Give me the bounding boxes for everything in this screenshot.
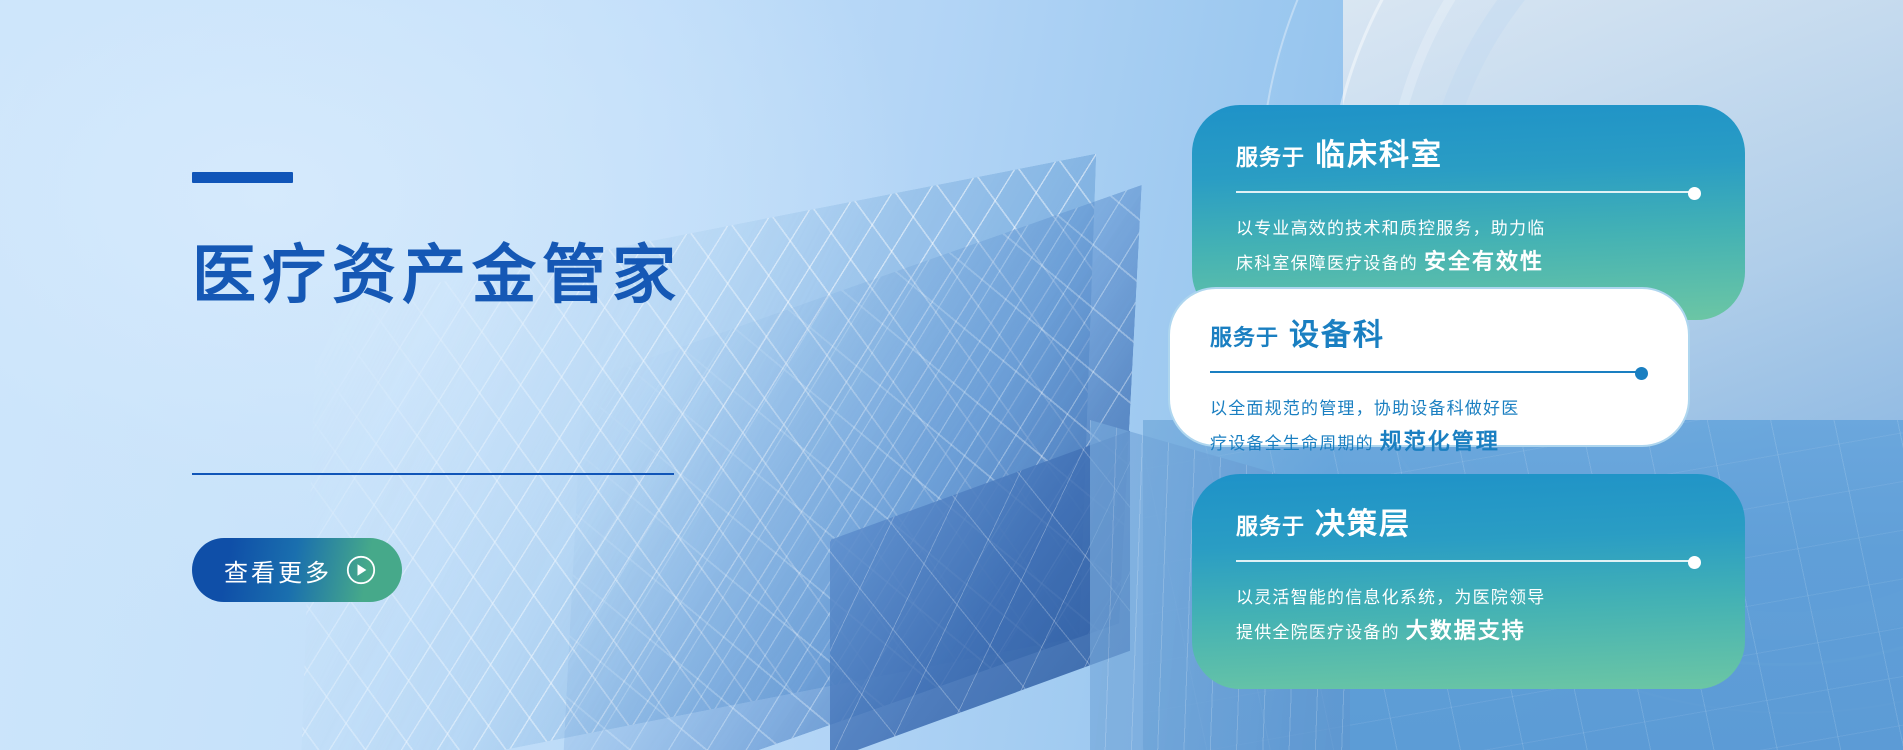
card-description: 以全面规范的管理，协助设备科做好医 疗设备全生命周期的 规范化管理 — [1210, 392, 1648, 460]
hero-banner: 医疗资产金管家 查看更多 服务于 临床科室 以专业高效的技术 — [0, 0, 1903, 750]
card-description-line-1: 以全面规范的管理，协助设备科做好医 — [1210, 392, 1648, 425]
service-card-list: 服务于 临床科室 以专业高效的技术和质控服务，助力临 床科室保障医疗设备的 安全… — [0, 0, 1903, 750]
card-description-emphasis: 规范化管理 — [1380, 429, 1500, 454]
card-description: 以灵活智能的信息化系统，为医院领导 提供全院医疗设备的 大数据支持 — [1236, 581, 1701, 649]
card-description-emphasis: 安全有效性 — [1424, 249, 1544, 274]
card-description-line-2: 床科室保障医疗设备的 安全有效性 — [1236, 245, 1701, 280]
card-description-line-2-text: 提供全院医疗设备的 — [1236, 623, 1400, 642]
card-separator-line — [1236, 560, 1689, 562]
card-title: 服务于 临床科室 — [1236, 139, 1701, 172]
card-description-line-2: 疗设备全生命周期的 规范化管理 — [1210, 425, 1648, 460]
card-title-target: 临床科室 — [1315, 139, 1443, 172]
card-title-prefix: 服务于 — [1236, 146, 1305, 170]
card-title-target: 设备科 — [1289, 319, 1385, 352]
service-card-decision-layer[interactable]: 服务于 决策层 以灵活智能的信息化系统，为医院领导 提供全院医疗设备的 大数据支… — [1192, 474, 1745, 689]
progress-dot-icon — [1688, 556, 1701, 569]
card-description-line-2: 提供全院医疗设备的 大数据支持 — [1236, 614, 1701, 649]
card-description-line-1: 以灵活智能的信息化系统，为医院领导 — [1236, 581, 1701, 614]
card-title-target: 决策层 — [1315, 508, 1411, 541]
card-separator-line — [1236, 191, 1689, 193]
card-description-emphasis: 大数据支持 — [1406, 618, 1526, 643]
card-title: 服务于 设备科 — [1210, 319, 1648, 352]
card-title: 服务于 决策层 — [1236, 508, 1701, 541]
card-title-prefix: 服务于 — [1236, 515, 1305, 539]
card-separator — [1210, 367, 1648, 376]
progress-dot-icon — [1688, 187, 1701, 200]
card-separator-line — [1210, 371, 1636, 373]
progress-dot-icon — [1635, 367, 1648, 380]
card-description-line-2-text: 床科室保障医疗设备的 — [1236, 254, 1418, 273]
card-separator — [1236, 556, 1701, 565]
card-description-line-2-text: 疗设备全生命周期的 — [1210, 434, 1374, 453]
card-description-line-1: 以专业高效的技术和质控服务，助力临 — [1236, 212, 1701, 245]
card-description: 以专业高效的技术和质控服务，助力临 床科室保障医疗设备的 安全有效性 — [1236, 212, 1701, 280]
card-title-prefix: 服务于 — [1210, 326, 1279, 350]
card-separator — [1236, 187, 1701, 196]
service-card-equipment-department[interactable]: 服务于 设备科 以全面规范的管理，协助设备科做好医 疗设备全生命周期的 规范化管… — [1168, 287, 1690, 447]
